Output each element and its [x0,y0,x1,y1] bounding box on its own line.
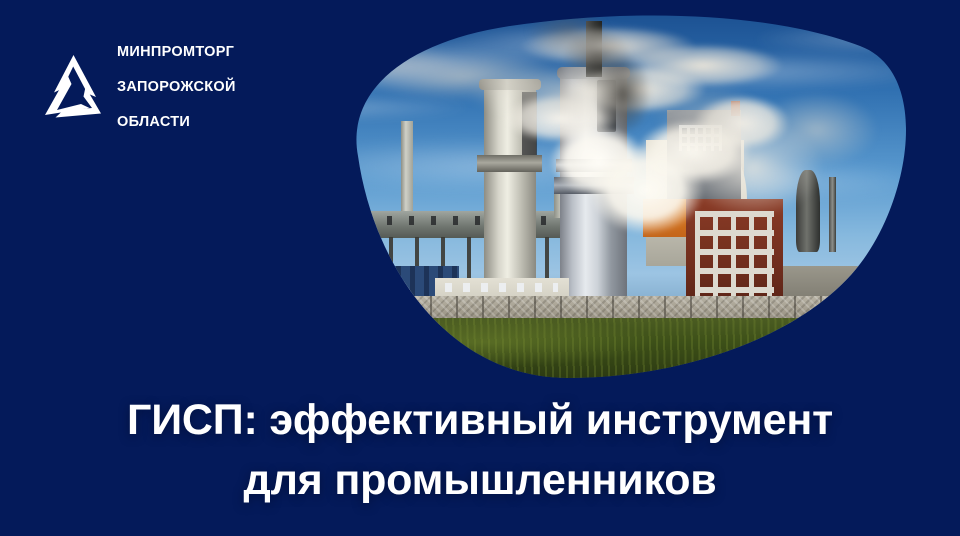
industrial-photo [300,6,912,378]
dark-smoke-stack [520,6,704,132]
page-title: ГИСП: эффективный инструмент для промышл… [0,391,960,510]
industrial-photo-scene [300,6,912,378]
promo-banner: МИНПРОМТОРГ ЗАПОРОЖСКОЙ ОБЛАСТИ [0,0,960,536]
ministry-logo-line-2: ЗАПОРОЖСКОЙ [117,79,236,97]
ministry-logo-line-3: ОБЛАСТИ [117,114,236,132]
headline-line-1: ГИСП: эффективный инструмент [34,391,926,450]
ministry-triangle-logo-icon [40,53,104,121]
ministry-logo-line-1: МИНПРОМТОРГ [117,44,236,62]
grass-foreground [300,318,912,378]
ministry-logo[interactable]: МИНПРОМТОРГ ЗАПОРОЖСКОЙ ОБЛАСТИ [40,24,236,150]
headline-line-2: для промышленников [34,451,926,510]
ministry-logo-text: МИНПРОМТОРГ ЗАПОРОЖСКОЙ ОБЛАСТИ [117,24,236,150]
